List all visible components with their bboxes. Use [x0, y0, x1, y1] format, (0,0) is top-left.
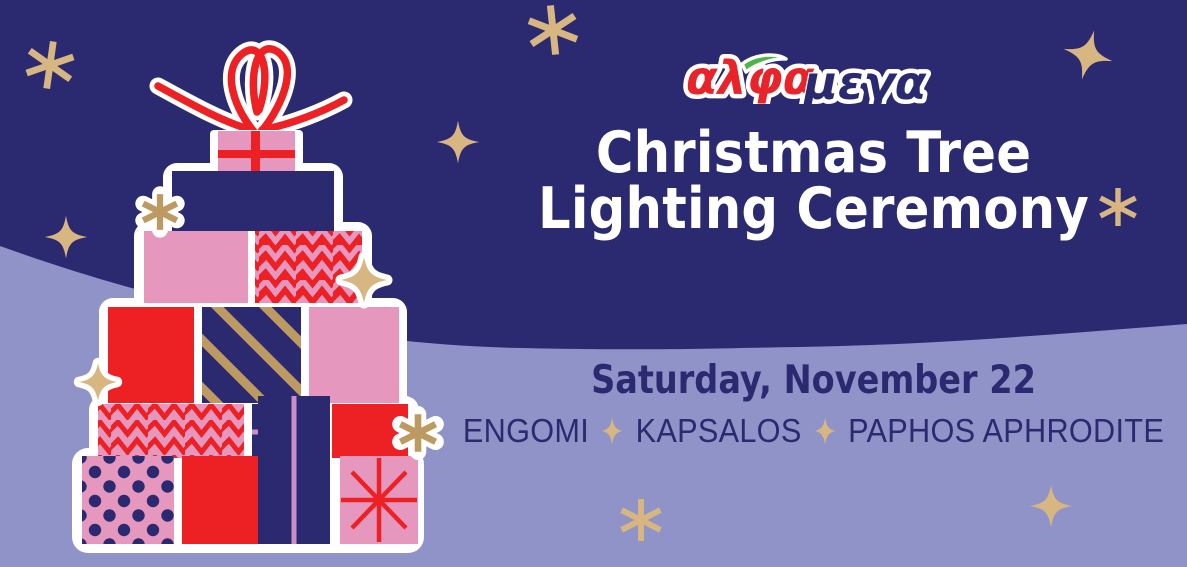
gift-box-tier4-pink	[309, 307, 399, 403]
christmas-event-banner: αλφα μεγα αλφα μεγα Christmas Tree Light…	[0, 0, 1187, 567]
four-point-star-icon	[601, 416, 623, 446]
event-date: Saturday, November 22	[492, 358, 1134, 403]
location-engomi: ENGOMI	[463, 412, 589, 450]
gift-box-tier4-red	[108, 307, 194, 403]
gift-top-bow	[158, 49, 344, 134]
event-locations: ENGOMI KAPSALOS PAPHOS APHRODITE	[466, 412, 1161, 450]
location-paphos-aphrodite: PAPHOS APHRODITE	[848, 412, 1164, 450]
gift-box-tier5-pink-zigzag	[98, 404, 244, 458]
gift-box-tier3-pink	[144, 231, 248, 303]
four-point-star-icon	[814, 416, 836, 446]
logo-text-red: αλφα	[686, 52, 815, 104]
event-info-column: αλφα μεγα αλφα μεγα Christmas Tree Light…	[440, 0, 1187, 567]
alfamega-logo: αλφα μεγα αλφα μεγα	[440, 52, 1187, 104]
location-kapsalos: KAPSALOS	[636, 412, 802, 450]
gift-box-tier6-pink-dots	[82, 456, 174, 544]
gift-box-tier6-pink-starburst	[340, 456, 418, 544]
gift-box-tier6-navy-ribbon	[258, 396, 330, 544]
headline-line-2: Lighting Ceremony	[477, 182, 1149, 238]
page-title: Christmas Tree Lighting Ceremony	[477, 126, 1149, 238]
gift-box-tier4-navy-gold-stripes	[202, 307, 301, 403]
tree-sparkle-asterisk-right	[400, 414, 435, 451]
gift-box-tier3-red-zigzag	[255, 231, 362, 303]
gift-box-tier2-navy	[172, 171, 334, 231]
tree-sparkle-asterisk-upper	[143, 194, 177, 230]
headline-line-1: Christmas Tree	[477, 126, 1149, 182]
logo-text-white: μεγα	[802, 56, 927, 104]
gift-tree-illustration	[0, 0, 470, 567]
